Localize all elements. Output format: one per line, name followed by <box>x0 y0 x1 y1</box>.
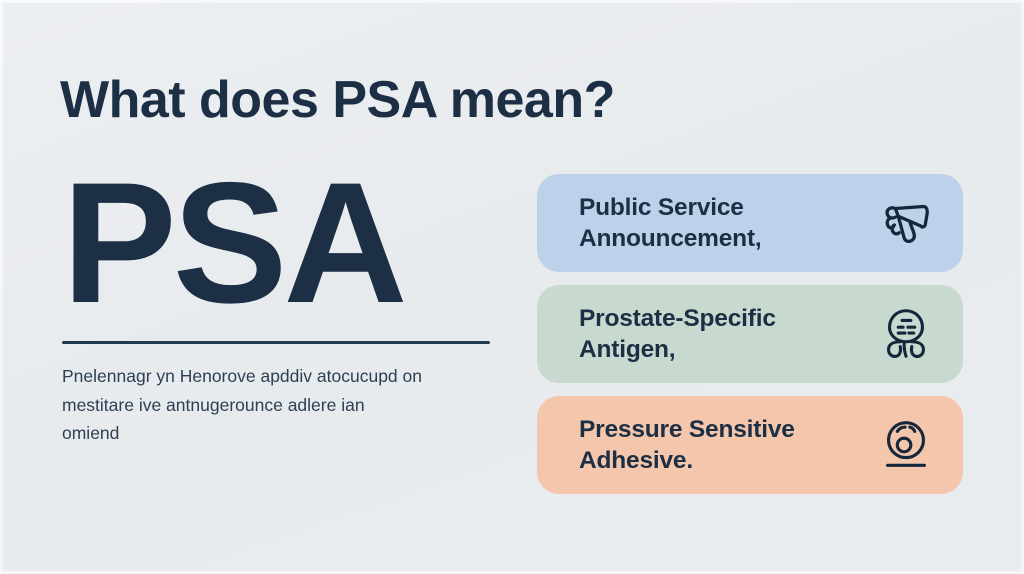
page-title: What does PSA mean? <box>60 72 615 129</box>
meaning-card-pressure-sensitive-adhesive[interactable]: Pressure Sensitive Adhesive. <box>537 396 963 494</box>
meaning-card-prostate-specific-antigen[interactable]: Prostate-Specific Antigen, <box>537 285 963 383</box>
acronym-panel: PSA Pnelennagr yn Henorove apddiv atocuc… <box>62 168 492 447</box>
psa-infographic: What does PSA mean? PSA Pnelennagr yn He… <box>0 0 1024 574</box>
meaning-card-public-service-announcement[interactable]: Public Service Announcement, <box>537 174 963 272</box>
acronym-display: PSA <box>62 168 492 319</box>
divider <box>62 341 490 344</box>
meaning-card-label: Prostate-Specific Antigen, <box>579 303 869 366</box>
description-text: Pnelennagr yn Henorove apddiv atocucupd … <box>62 362 422 447</box>
prostate-gland-icon <box>875 303 937 365</box>
tape-roll-icon <box>875 414 937 476</box>
meaning-card-label: Pressure Sensitive Adhesive. <box>579 414 869 477</box>
megaphone-icon <box>875 192 937 254</box>
meaning-card-label: Public Service Announcement, <box>579 192 869 255</box>
meaning-card-list: Public Service Announcement, Prostate-Sp… <box>537 174 963 494</box>
